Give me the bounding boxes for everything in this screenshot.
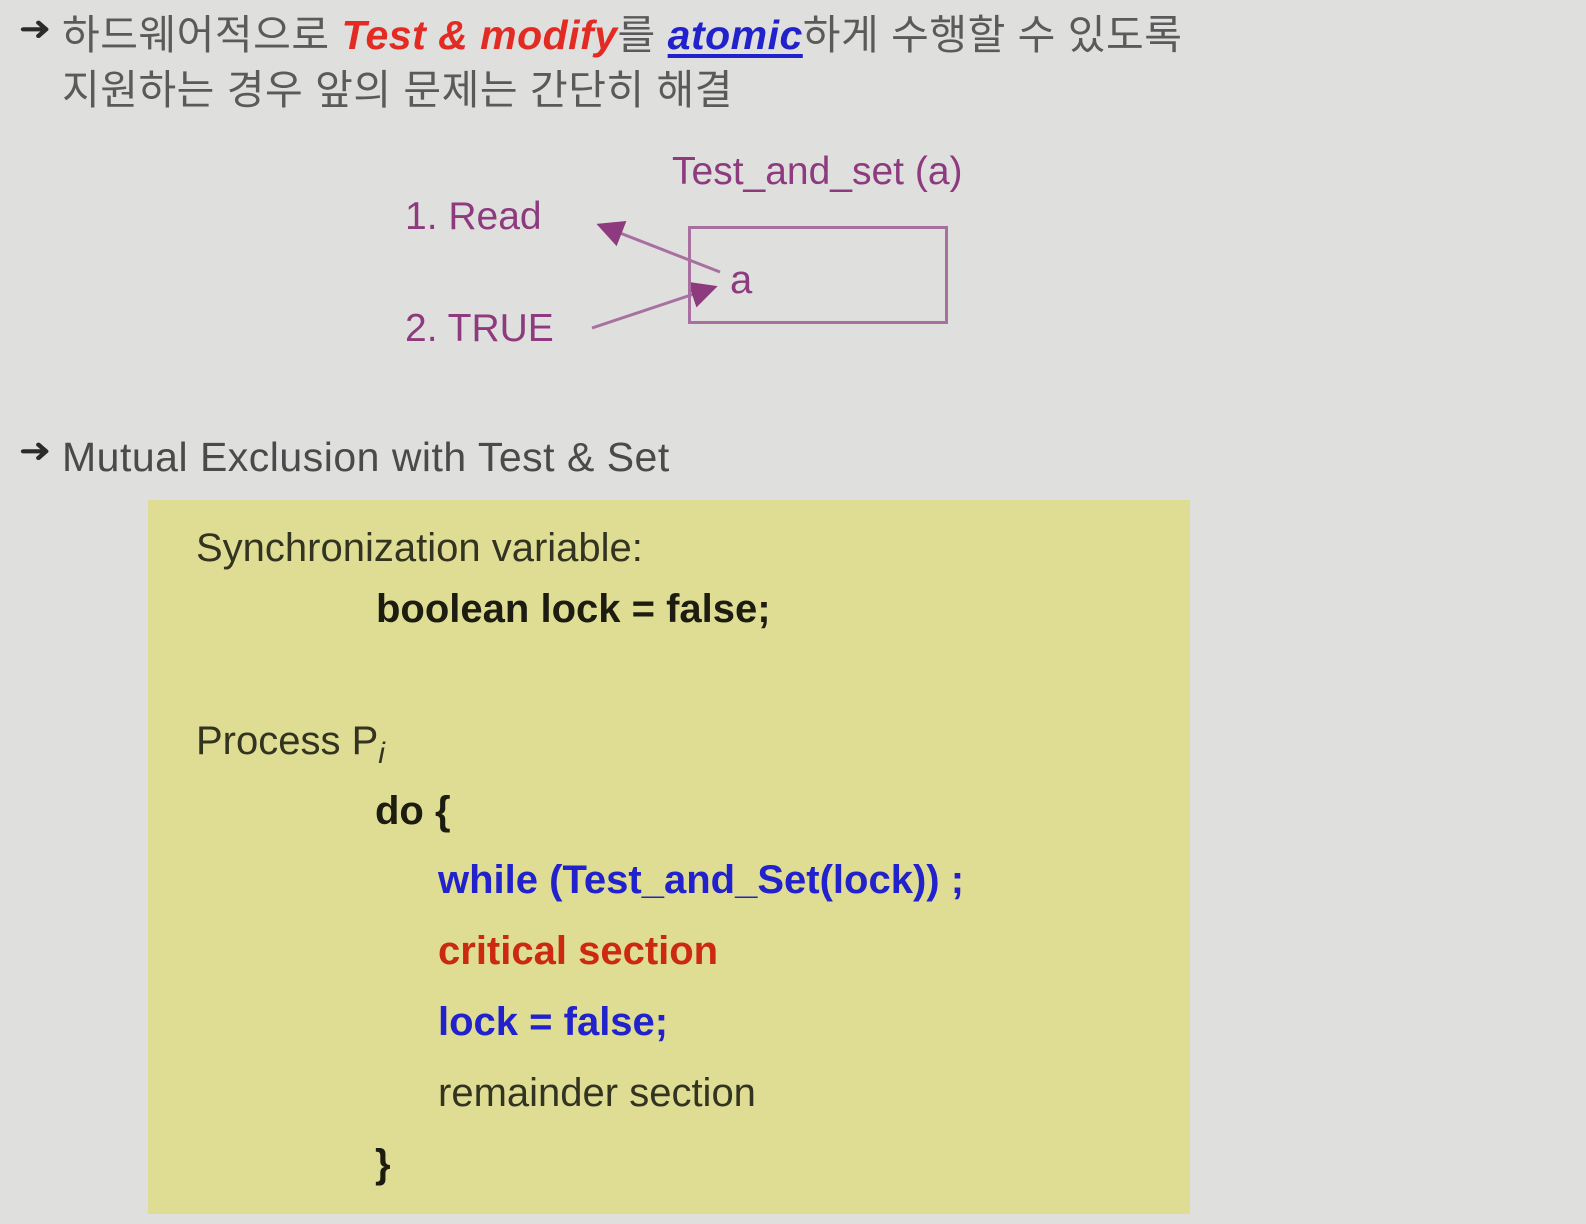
code-line-sync-variable: Synchronization variable:: [196, 528, 643, 568]
kr-fragment-1: 하드웨어적으로: [62, 12, 341, 58]
emphasis-test-and-modify: Test & modify: [341, 12, 617, 58]
code-process-label: Process P: [196, 719, 378, 763]
test-and-set-diagram: Test_and_set (a) 1. Read 2. TRUE a: [0, 140, 1586, 380]
memory-cell-box: [688, 226, 948, 324]
kr-fragment-3: 하게 수행할 수 있도록: [803, 12, 1183, 58]
code-line-lock-false: lock = false;: [438, 1002, 668, 1042]
diagram-title: Test_and_set (a): [672, 150, 963, 194]
code-line-close-brace: }: [375, 1144, 391, 1184]
emphasis-atomic[interactable]: atomic: [668, 12, 803, 58]
kr-fragment-2: 를: [618, 12, 668, 58]
bullet-arrow-icon: ➜: [4, 12, 66, 46]
diagram-step-read: 1. Read: [405, 195, 542, 239]
code-line-process-p: Process Pi: [196, 721, 385, 769]
bullet-hardware-atomic-text: 하드웨어적으로 Test & modify를 atomic하게 수행할 수 있도…: [62, 8, 1182, 117]
diagram-variable-a: a: [730, 258, 752, 303]
code-line-while-test-and-set: while (Test_and_Set(lock)) ;: [438, 860, 964, 900]
code-process-subscript: i: [378, 737, 385, 770]
code-line-critical-section: critical section: [438, 931, 718, 971]
bullet-hardware-atomic: ➜ 하드웨어적으로 Test & modify를 atomic하게 수행할 수 …: [8, 8, 1508, 117]
code-panel: Synchronization variable: boolean lock =…: [148, 500, 1190, 1214]
code-line-do-open: do {: [375, 791, 451, 831]
bullet-mutual-exclusion-text: Mutual Exclusion with Test & Set: [62, 430, 670, 485]
bullet-mutual-exclusion: ➜ Mutual Exclusion with Test & Set: [8, 430, 670, 485]
diagram-step-true: 2. TRUE: [405, 307, 554, 351]
code-line-boolean-lock: boolean lock = false;: [376, 589, 771, 629]
code-line-remainder-section: remainder section: [438, 1073, 756, 1113]
kr-line-2: 지원하는 경우 앞의 문제는 간단히 해결: [62, 67, 733, 113]
bullet-arrow-icon: ➜: [4, 434, 66, 468]
